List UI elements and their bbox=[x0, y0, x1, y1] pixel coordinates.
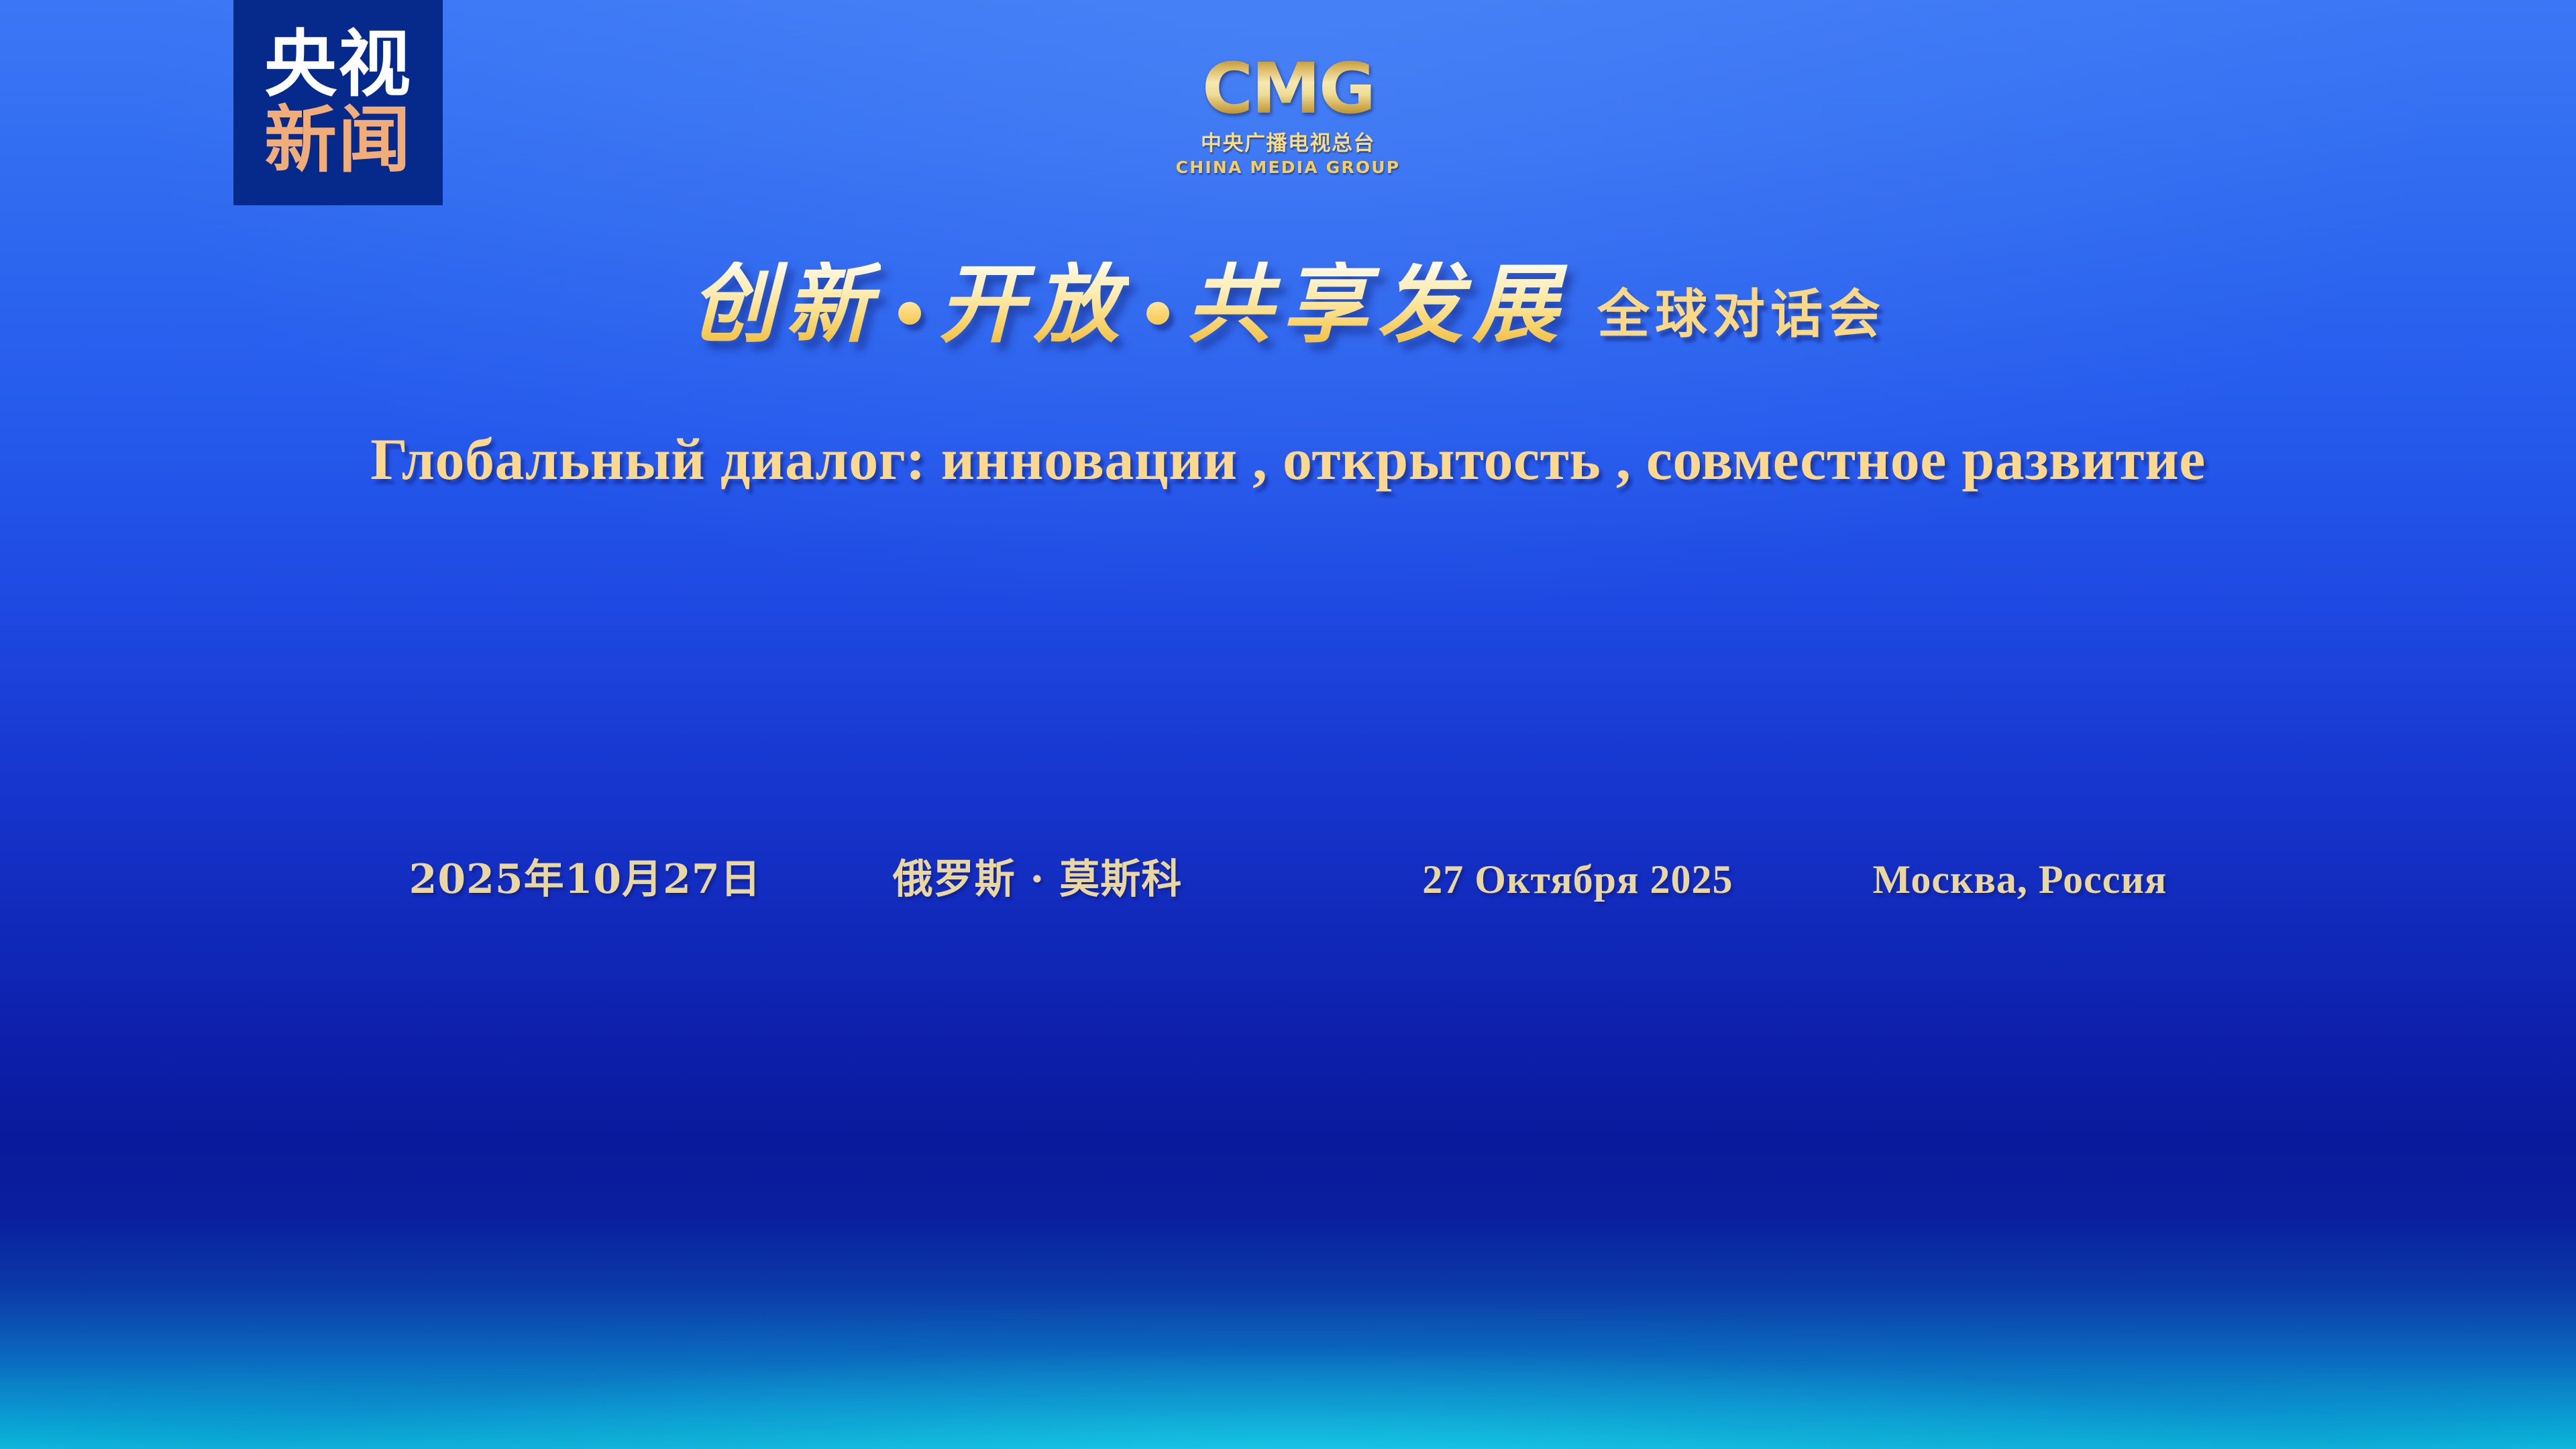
cmg-logo: CMG 中央广播电视总台 CHINA MEDIA GROUP bbox=[0, 56, 2576, 177]
event-date-chinese: 2025年10月27日 bbox=[409, 847, 761, 905]
chinese-title-part-1: 创新 bbox=[690, 262, 881, 347]
event-date-russian: 27 Октября 2025 bbox=[1422, 857, 1733, 903]
event-info-row: 2025年10月27日 俄罗斯 · 莫斯科 27 Октября 2025 Мо… bbox=[0, 847, 2576, 905]
chinese-title-part-3: 共享发展 bbox=[1187, 262, 1568, 347]
russian-title: Глобальный диалог: инновации , открытост… bbox=[0, 429, 2576, 491]
event-location-chinese: 俄罗斯 · 莫斯科 bbox=[893, 847, 1183, 905]
chinese-title-part-2: 开放 bbox=[938, 262, 1129, 347]
chinese-title-row: 创新 开放 共享发展 全球对话会 bbox=[0, 262, 2576, 347]
dot-separator-icon bbox=[1146, 302, 1169, 325]
event-backdrop: 央视 新闻 CMG 中央广播电视总台 CHINA MEDIA GROUP 创新 … bbox=[0, 0, 2576, 1449]
cmg-chinese-name: 中央广播电视总台 bbox=[1201, 126, 1375, 156]
chinese-title-suffix: 全球对话会 bbox=[1597, 288, 1886, 341]
cmg-wordmark: CMG bbox=[1202, 56, 1374, 122]
event-location-russian: Москва, Россия bbox=[1872, 857, 2167, 903]
cmg-english-name: CHINA MEDIA GROUP bbox=[1176, 158, 1401, 177]
dot-separator-icon bbox=[898, 302, 921, 325]
